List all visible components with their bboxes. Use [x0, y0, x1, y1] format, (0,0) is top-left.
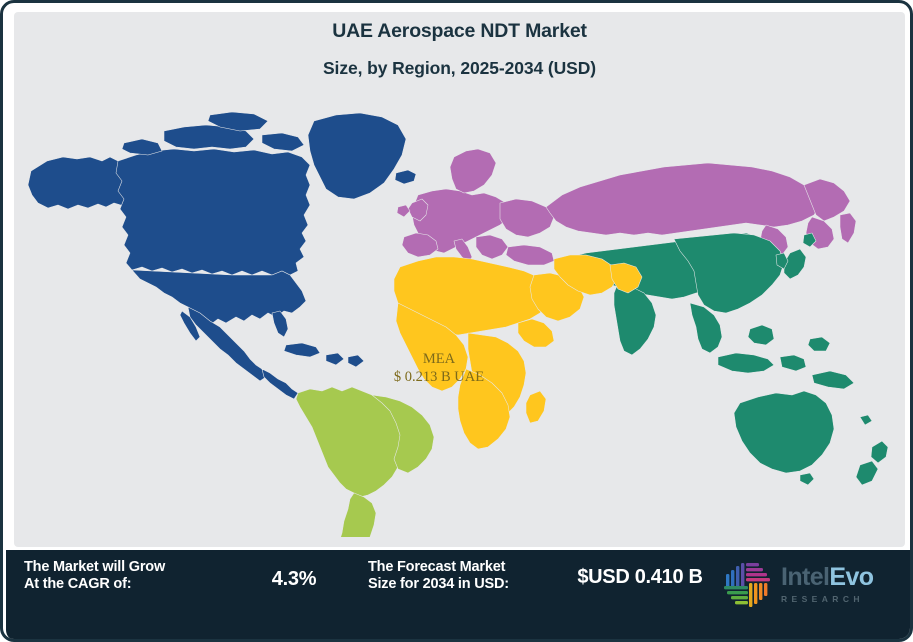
- cagr-value-group: 4.3%: [239, 566, 349, 593]
- page-title: UAE Aerospace NDT Market: [14, 18, 905, 44]
- map-region-latin-america: [296, 387, 434, 537]
- cagr-label-line2: At the CAGR of:: [24, 576, 239, 593]
- forecast-label-line1: The Forecast Market: [368, 559, 568, 576]
- world-map: MEA $ 0.213 B UAE: [14, 107, 905, 537]
- cagr-label-line1: The Market will Grow: [24, 559, 239, 576]
- cagr-value: 4.3%: [239, 566, 349, 593]
- forecast-label-line2: Size for 2034 in USD:: [368, 576, 568, 593]
- map-region-europe: [397, 149, 856, 265]
- brand-logo: IntelEvo RESEARCH: [721, 555, 906, 613]
- forecast-value: $USD 0.410 B: [566, 564, 714, 591]
- logo-wordmark-block: IntelEvo RESEARCH: [781, 565, 873, 604]
- map-region-north-america: [28, 112, 416, 399]
- title-block: UAE Aerospace NDT Market Size, by Region…: [14, 18, 905, 81]
- logo-word-intel: Intel: [781, 563, 829, 591]
- world-map-svg: [14, 107, 905, 537]
- logo-wordmark: IntelEvo: [781, 565, 873, 590]
- market-infographic-card: UAE Aerospace NDT Market Size, by Region…: [0, 0, 913, 642]
- map-region-mea: [394, 255, 642, 449]
- logo-tagline: RESEARCH: [781, 594, 873, 604]
- forecast-label-group: The Forecast Market Size for 2034 in USD…: [368, 559, 568, 593]
- intelevo-pinwheel-icon: [721, 560, 773, 608]
- page-subtitle: Size, by Region, 2025-2034 (USD): [14, 57, 905, 81]
- map-content-plate: UAE Aerospace NDT Market Size, by Region…: [14, 12, 905, 547]
- forecast-value-group: $USD 0.410 B: [566, 564, 714, 591]
- cagr-label-group: The Market will Grow At the CAGR of:: [24, 559, 239, 593]
- logo-word-evo: Evo: [829, 563, 873, 591]
